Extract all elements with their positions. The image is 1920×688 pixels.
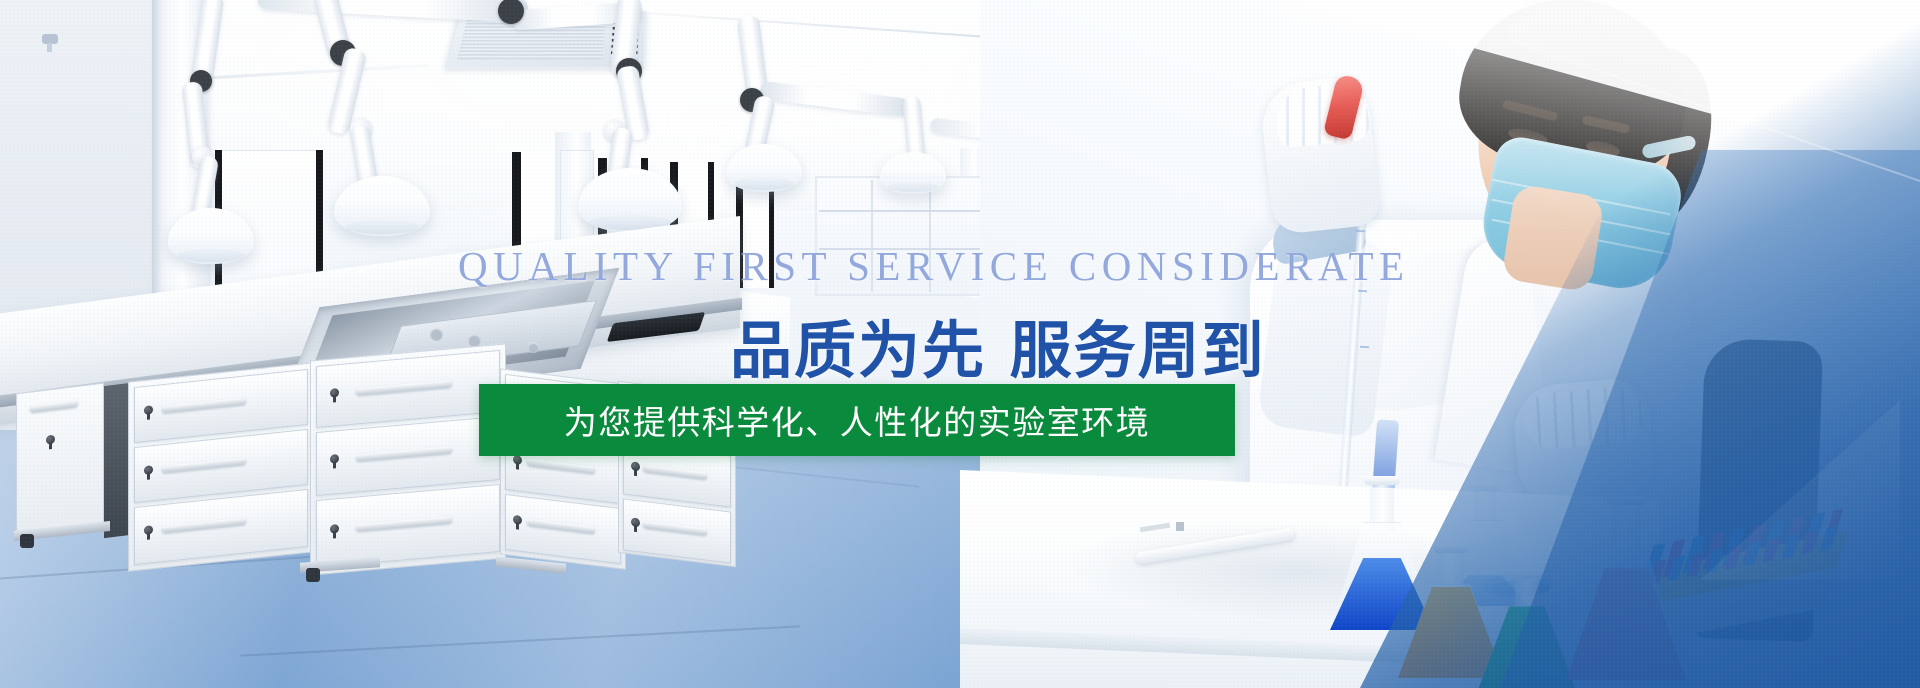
english-tagline: QUALITY FIRST SERVICE CONSIDERATE [458,242,1410,290]
banner-text-overlay: QUALITY FIRST SERVICE CONSIDERATE 品质为先 服… [0,0,1920,688]
lab-hero-banner: QUALITY FIRST SERVICE CONSIDERATE 品质为先 服… [0,0,1920,688]
headline: 品质为先 服务周到 [730,300,1266,390]
subtitle-text: 为您提供科学化、人性化的实验室环境 [564,396,1151,444]
subtitle-bar: 为您提供科学化、人性化的实验室环境 [479,384,1235,456]
